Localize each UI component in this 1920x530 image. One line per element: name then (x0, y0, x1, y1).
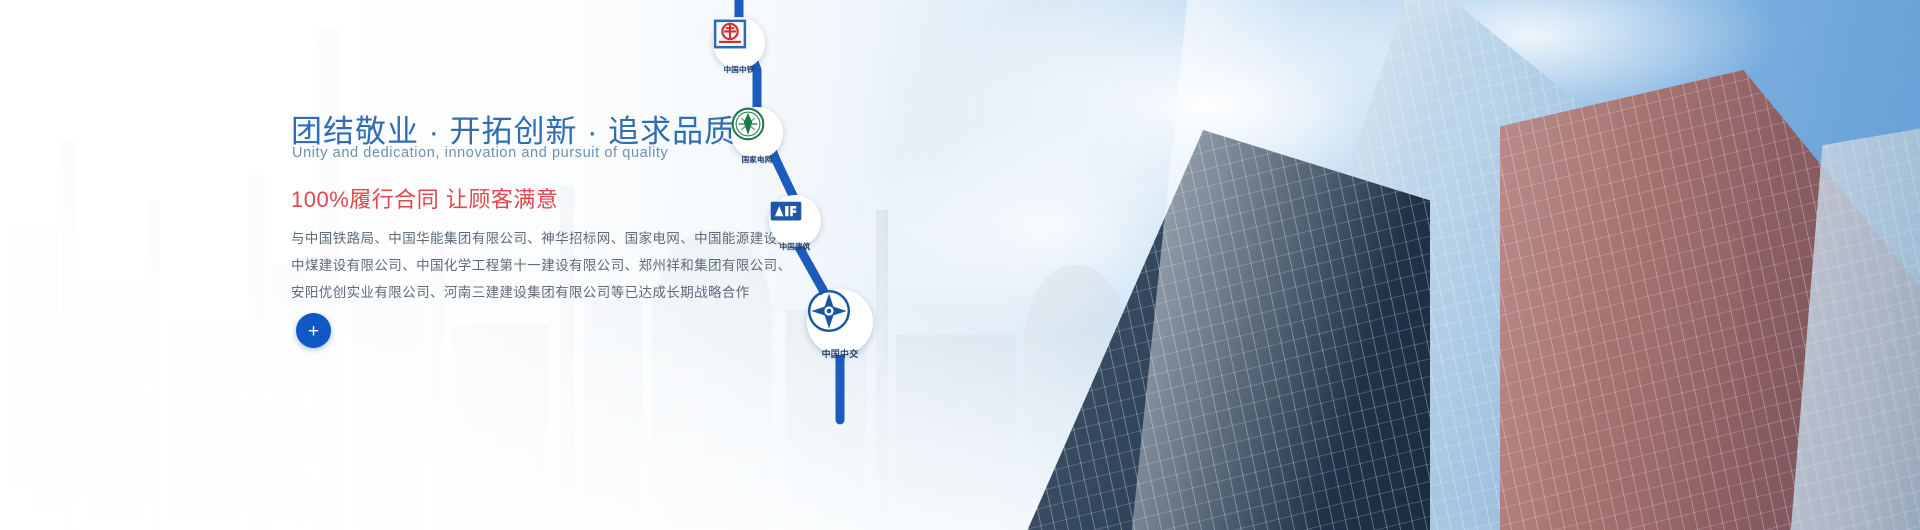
promise-tagline: 100%履行合同 让顾客满意 (291, 182, 558, 214)
hero-banner: 团结敬业 · 开拓创新 · 追求品质 Unity and dedication,… (0, 0, 1920, 530)
china-communications-construction-logo-icon (807, 289, 851, 333)
partner-name: 中国中交 (780, 347, 900, 360)
china-railway-logo-icon (713, 17, 747, 51)
read-more-button[interactable]: + (296, 313, 331, 348)
partner-name: 中国建筑 (735, 241, 855, 252)
partner-badge-china-construction[interactable]: 中国建筑 (769, 195, 821, 247)
page-subtitle: Unity and dedication, innovation and pur… (292, 145, 668, 161)
glass-tower-photo (860, 0, 1920, 530)
partner-badge-china-communications[interactable]: 中国中交 (807, 289, 873, 355)
partner-name: 国家电网 (697, 154, 817, 165)
china-state-construction-logo-icon (769, 195, 803, 229)
partner-logo-chain: 中国中铁 国家电网 中国建筑 (690, 0, 950, 420)
partner-name: 中国中铁 (679, 64, 799, 75)
partner-badge-china-railway[interactable]: 中国中铁 (713, 17, 765, 69)
tower-face-dark (1010, 130, 1430, 530)
state-grid-logo-icon (731, 107, 765, 141)
partner-badge-state-grid[interactable]: 国家电网 (731, 107, 783, 159)
